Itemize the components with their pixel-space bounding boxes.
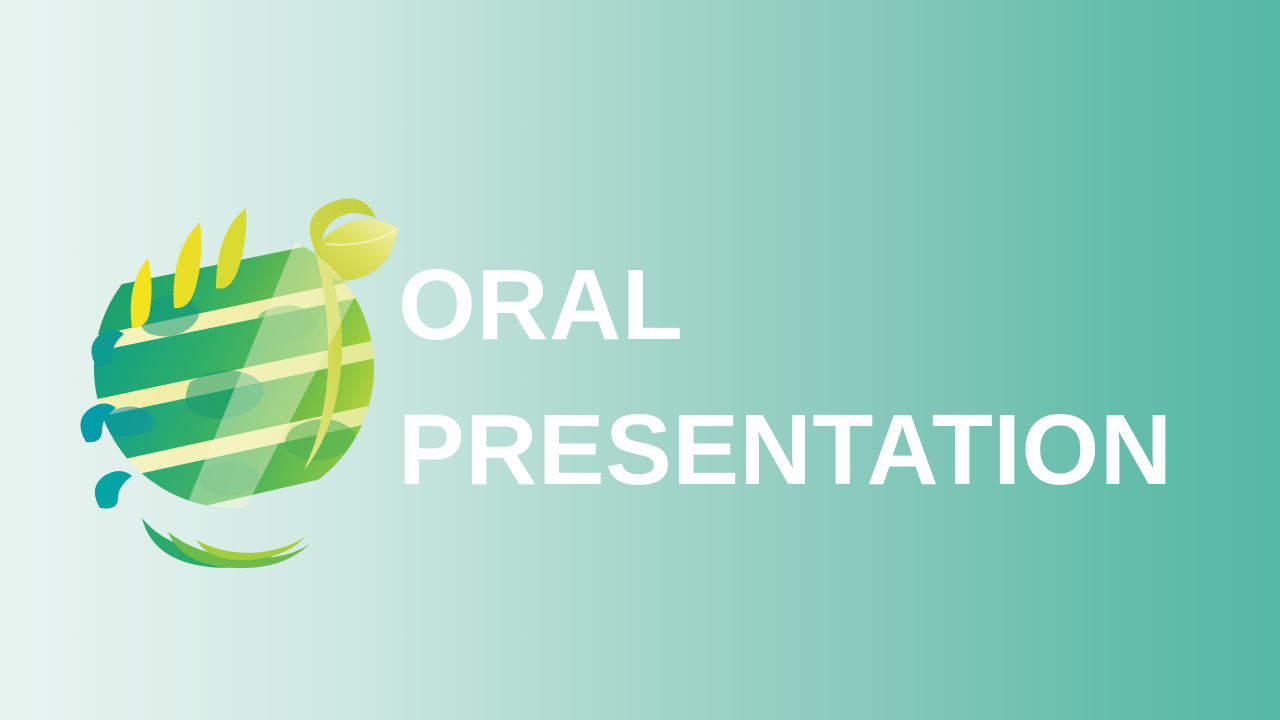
title-line-presentation: PRESENTATION <box>398 378 1218 523</box>
globe-leaf-logo-icon <box>86 196 386 526</box>
brand-logo <box>86 196 386 526</box>
presentation-slide: ORAL PRESENTATION <box>0 0 1280 720</box>
ribbon-tip-teal-3 <box>95 471 132 509</box>
slide-title: ORAL PRESENTATION <box>398 233 1218 523</box>
title-line-oral: ORAL <box>398 233 1218 378</box>
